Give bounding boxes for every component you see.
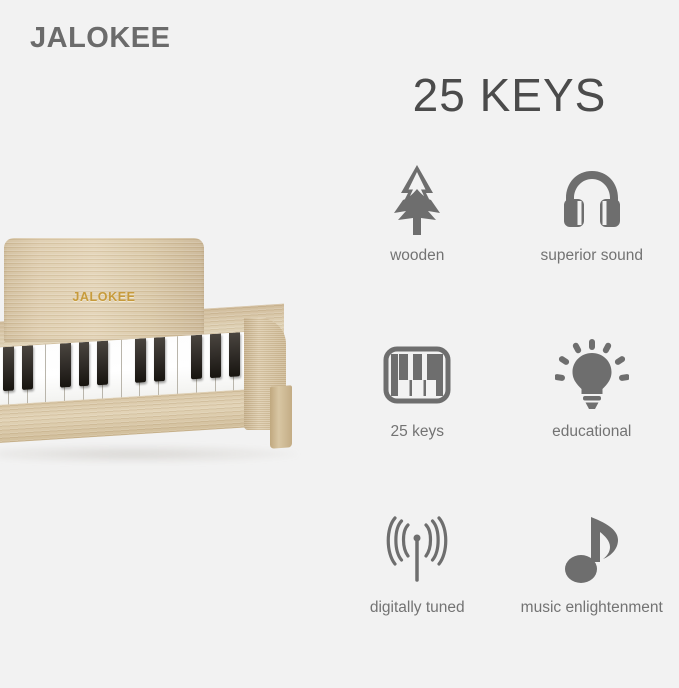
piano-music-stand: JALOKEE xyxy=(4,238,204,342)
feature-music-enlightenment: music enlightenment xyxy=(505,512,679,688)
feature-grid: wooden superior sound xyxy=(330,160,679,688)
piano-keys-icon xyxy=(383,336,451,414)
feature-label: wooden xyxy=(390,248,444,264)
lightbulb-icon xyxy=(555,336,629,414)
feature-label: educational xyxy=(552,424,631,440)
feature-label: superior sound xyxy=(540,248,643,264)
feature-digitally-tuned: digitally tuned xyxy=(330,512,505,688)
piano-black-key xyxy=(60,343,71,388)
feature-label: digitally tuned xyxy=(370,600,465,616)
piano-black-key xyxy=(154,337,165,382)
product-shadow xyxy=(0,445,298,463)
pine-tree-icon xyxy=(388,160,446,238)
brand-logo: JALOKEE xyxy=(30,24,170,53)
page-title: 25 KEYS xyxy=(340,72,679,118)
piano-black-key xyxy=(3,346,14,391)
feature-superior-sound: superior sound xyxy=(505,160,679,336)
piano-black-key xyxy=(191,335,202,380)
piano-black-key xyxy=(97,341,108,386)
piano-brand-engraving: JALOKEE xyxy=(72,290,135,304)
piano-black-key xyxy=(79,342,90,387)
feature-wooden: wooden xyxy=(330,160,505,336)
piano-black-key xyxy=(210,333,221,378)
feature-label: music enlightenment xyxy=(521,600,663,616)
piano-black-key xyxy=(22,345,33,390)
feature-label: 25 keys xyxy=(391,424,444,440)
product-image: JALOKEE xyxy=(0,230,322,500)
piano-leg-post xyxy=(270,385,292,448)
feature-25-keys: 25 keys xyxy=(330,336,505,512)
music-note-icon xyxy=(561,512,623,590)
piano-black-key xyxy=(229,332,240,377)
feature-educational: educational xyxy=(505,336,679,512)
headphones-icon xyxy=(558,160,626,238)
piano-black-key xyxy=(135,338,146,383)
antenna-signal-icon xyxy=(379,512,455,590)
